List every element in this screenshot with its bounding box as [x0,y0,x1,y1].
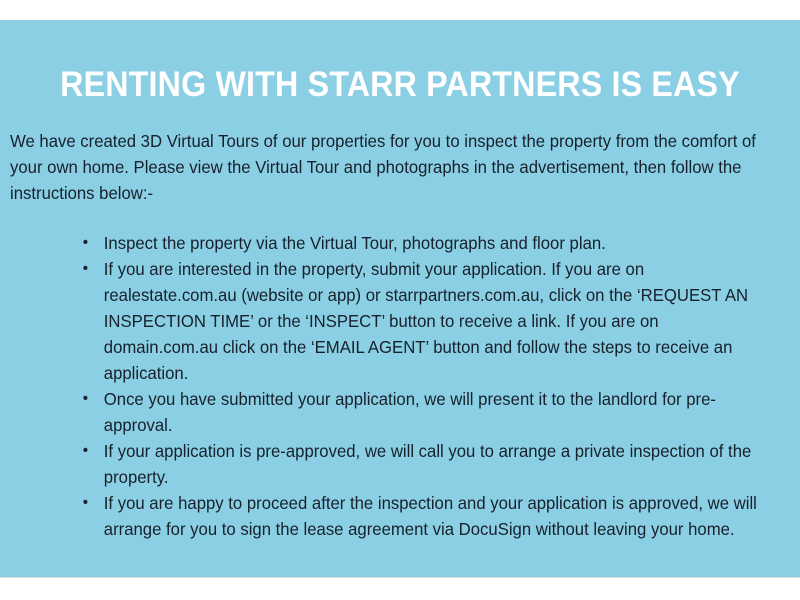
instructions-list: • Inspect the property via the Virtual T… [78,230,762,542]
intro-paragraph: We have created 3D Virtual Tours of our … [10,128,759,206]
list-item: • If you are happy to proceed after the … [78,490,762,542]
bullet-dot-icon: • [83,438,96,464]
list-item-text: Once you have submitted your application… [104,386,762,438]
slide-panel: RENTING WITH STARR PARTNERS IS EASY We h… [0,20,800,578]
bullet-dot-icon: • [83,256,96,282]
list-item-text: If you are happy to proceed after the in… [104,490,762,542]
list-item: • Once you have submitted your applicati… [78,386,762,438]
list-item: • If you are interested in the property,… [78,256,762,386]
page-title: RENTING WITH STARR PARTNERS IS EASY [32,64,768,106]
list-item: • If your application is pre-approved, w… [78,438,762,490]
bullet-dot-icon: • [83,490,96,516]
list-item: • Inspect the property via the Virtual T… [78,230,762,256]
list-item-text: If you are interested in the property, s… [104,256,762,386]
list-item-text: If your application is pre-approved, we … [104,438,762,490]
bullet-dot-icon: • [83,386,96,412]
list-item-text: Inspect the property via the Virtual Tou… [104,230,762,256]
bullet-dot-icon: • [83,230,96,256]
intro-paragraph-block: We have created 3D Virtual Tours of our … [10,128,759,206]
